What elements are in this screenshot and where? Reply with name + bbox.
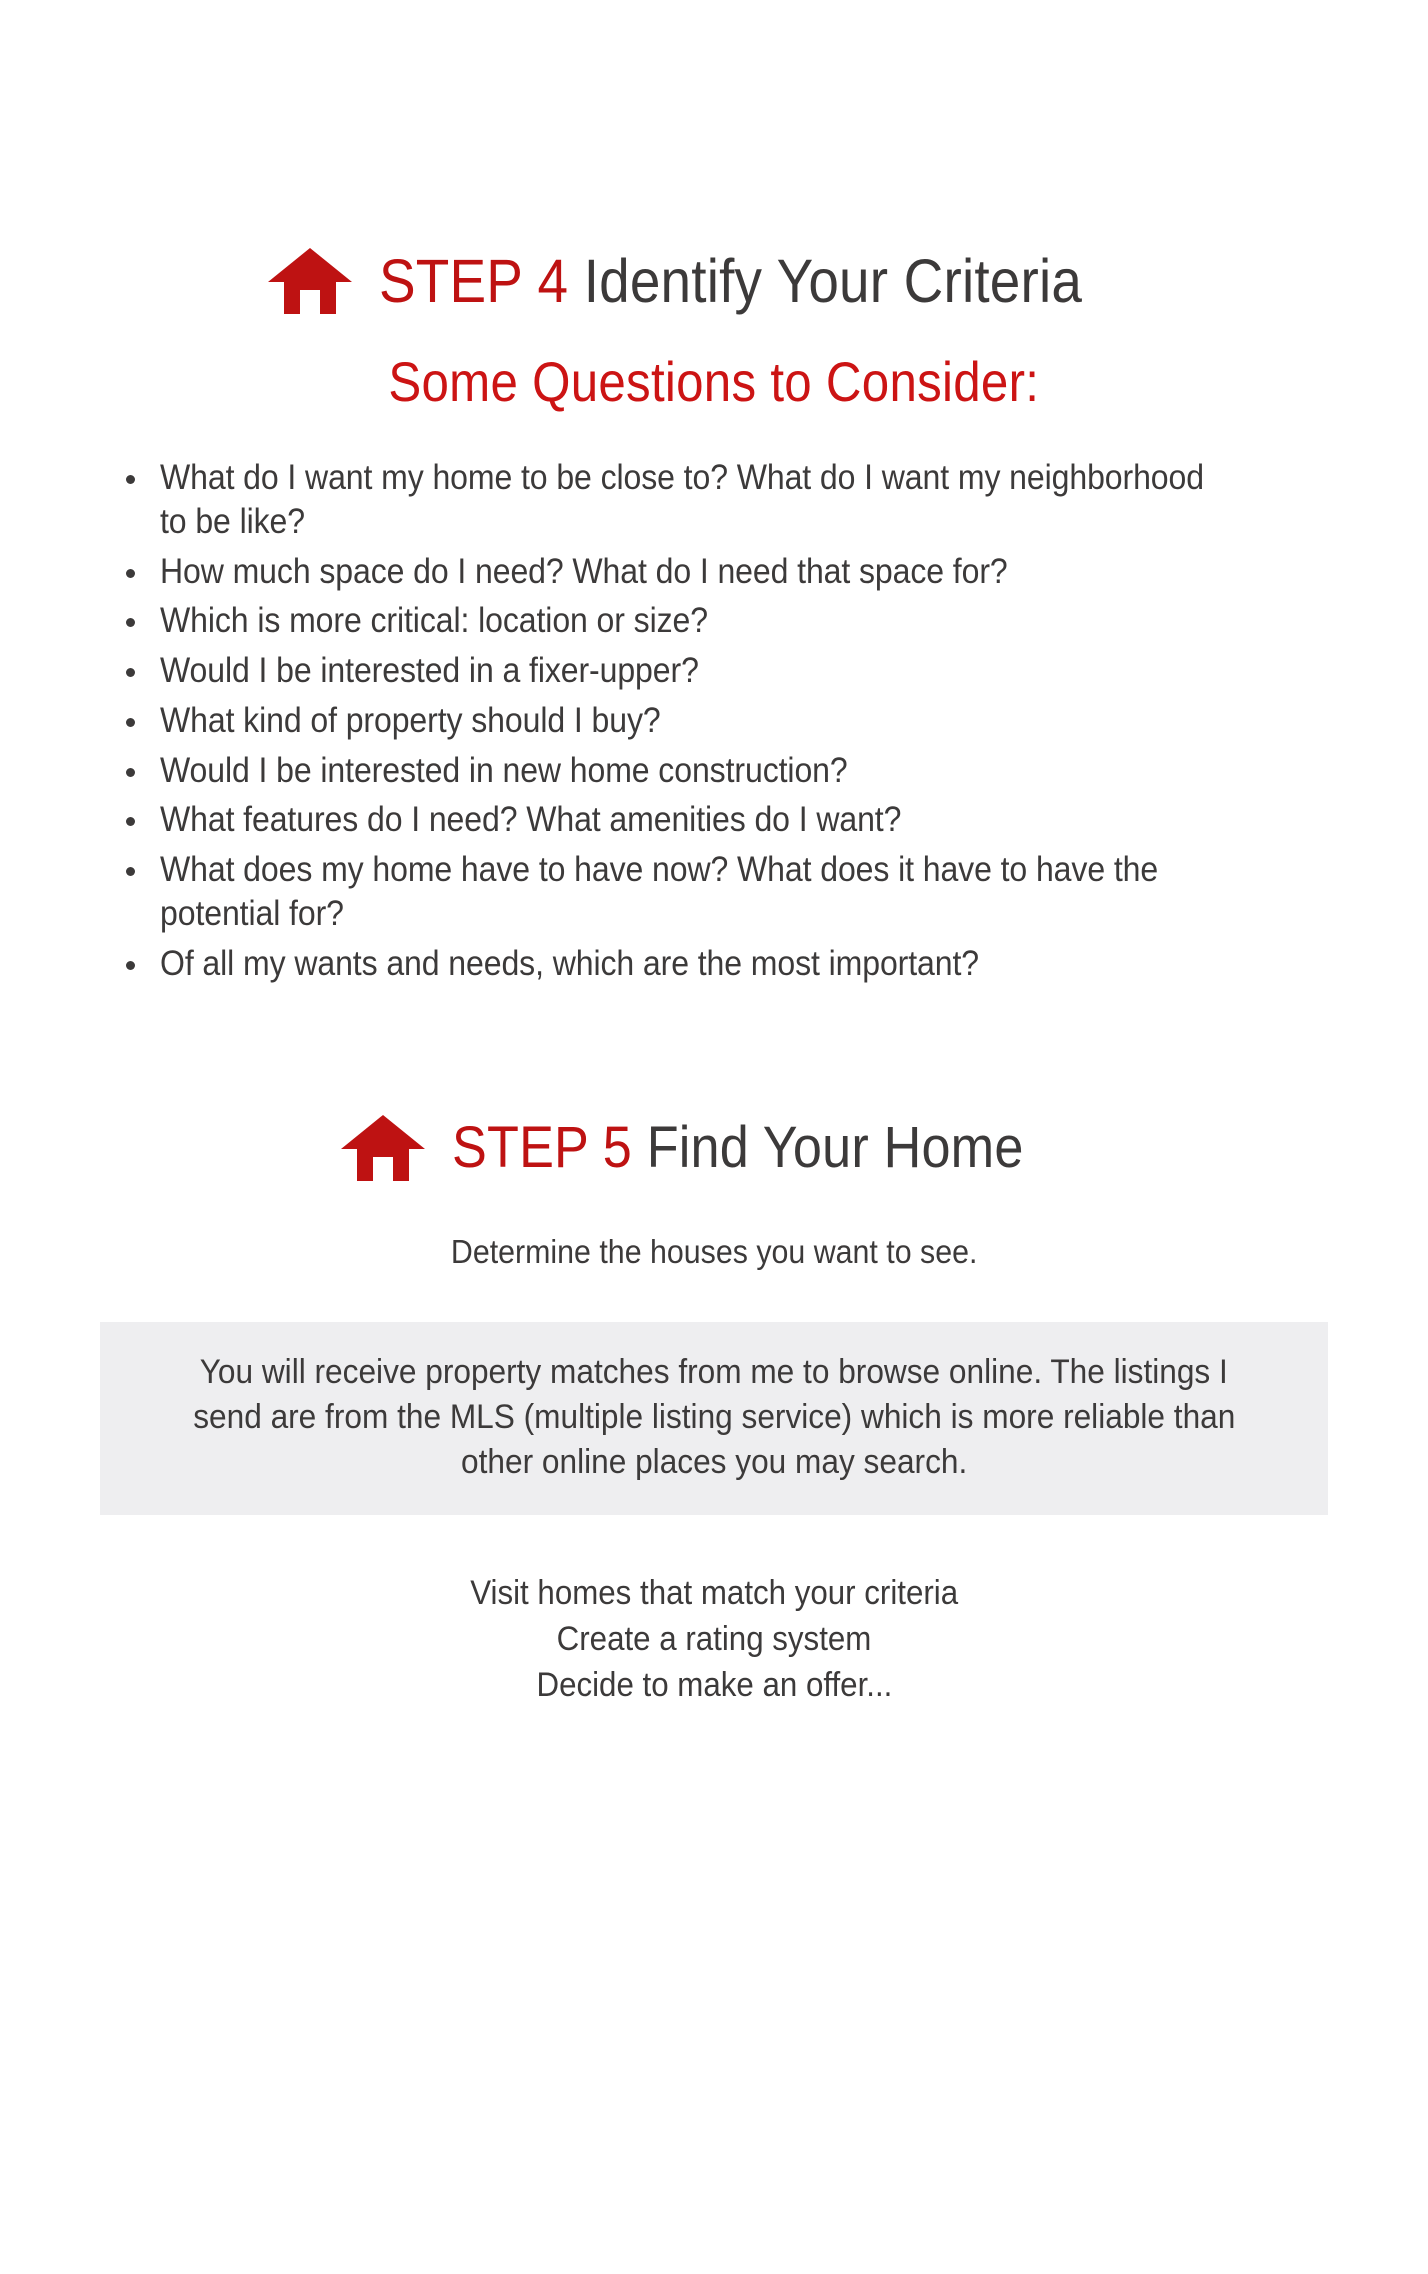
list-item: Which is more critical: location or size…: [118, 599, 1318, 643]
list-item: Would I be interested in a fixer-upper?: [118, 649, 1318, 693]
list-item: What kind of property should I buy?: [118, 699, 1318, 743]
step4-subtitle-text: Some Questions to Consider:: [389, 354, 1040, 410]
closing-text-3: Decide to make an offer...: [536, 1663, 892, 1709]
callout-line-2: send are from the MLS (multiple listing …: [134, 1395, 1294, 1440]
question-text: Would I be interested in new home constr…: [160, 749, 848, 793]
question-text: What kind of property should I buy?: [160, 699, 661, 743]
question-text: How much space do I need? What do I need…: [160, 550, 1008, 594]
determine-text: Determine the houses you want to see.: [451, 1231, 978, 1274]
question-text: What features do I need? What amenities …: [160, 798, 901, 842]
callout-line-1: You will receive property matches from m…: [134, 1350, 1294, 1395]
question-text: Of all my wants and needs, which are the…: [160, 942, 979, 986]
question-text: What do I want my home to be close to? W…: [160, 456, 1220, 544]
closing-text-1: Visit homes that match your criteria: [470, 1571, 958, 1617]
question-text: Which is more critical: location or size…: [160, 599, 708, 643]
document-page: STEP 4 Identify Your Criteria Some Quest…: [0, 246, 1428, 2274]
callout-text-2: send are from the MLS (multiple listing …: [193, 1395, 1235, 1440]
list-item: Would I be interested in new home constr…: [118, 749, 1318, 793]
criteria-question-list: What do I want my home to be close to? W…: [0, 456, 1428, 985]
step5-title-text: STEP 5 Find Your Home: [452, 1119, 1024, 1177]
mls-callout-box: You will receive property matches from m…: [100, 1322, 1328, 1515]
list-item: What does my home have to have now? What…: [118, 848, 1318, 936]
step4-title: Identify Your Criteria: [569, 247, 1083, 315]
step5-number: STEP 5: [452, 1115, 632, 1180]
house-icon: [267, 246, 353, 316]
list-item: What features do I need? What amenities …: [118, 798, 1318, 842]
callout-text-3: other online places you may search.: [461, 1440, 967, 1485]
step4-subtitle: Some Questions to Consider:: [0, 354, 1428, 410]
list-item: What do I want my home to be close to? W…: [118, 456, 1318, 544]
callout-text-1: You will receive property matches from m…: [200, 1350, 1228, 1395]
list-item: How much space do I need? What do I need…: [118, 550, 1318, 594]
closing-line: Create a rating system: [0, 1617, 1428, 1663]
question-text: What does my home have to have now? What…: [160, 848, 1220, 936]
house-icon: [340, 1113, 426, 1183]
list-item: Of all my wants and needs, which are the…: [118, 942, 1318, 986]
step5-title: Find Your Home: [632, 1115, 1024, 1180]
step4-number: STEP 4: [379, 247, 568, 315]
step5-heading: STEP 5 Find Your Home: [0, 1113, 1428, 1183]
step5-determine-line: Determine the houses you want to see.: [0, 1231, 1428, 1274]
step5-closing-lines: Visit homes that match your criteria Cre…: [0, 1571, 1428, 1709]
step4-heading: STEP 4 Identify Your Criteria: [0, 246, 1428, 316]
callout-line-3: other online places you may search.: [134, 1440, 1294, 1485]
question-text: Would I be interested in a fixer-upper?: [160, 649, 699, 693]
closing-text-2: Create a rating system: [557, 1617, 872, 1663]
closing-line: Decide to make an offer...: [0, 1663, 1428, 1709]
step4-title-text: STEP 4 Identify Your Criteria: [379, 251, 1082, 312]
closing-line: Visit homes that match your criteria: [0, 1571, 1428, 1617]
